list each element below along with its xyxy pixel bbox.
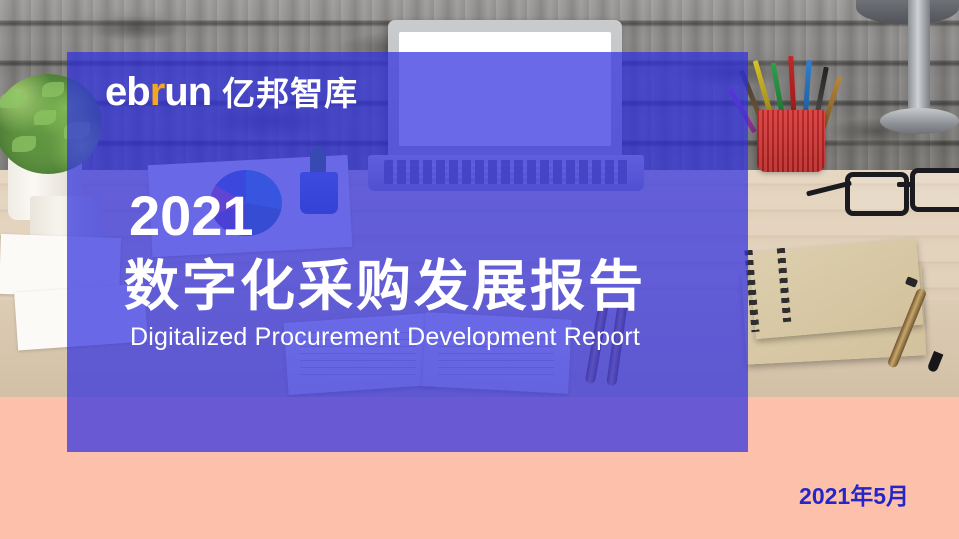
publication-date: 2021年5月 [799, 477, 909, 511]
logo-latin-part-1: eb [105, 70, 150, 114]
leaf [42, 82, 64, 97]
report-cover-slide: ebrun 亿邦智库 2021 数字化采购发展报告 Digitalized Pr… [0, 0, 959, 539]
cover-year: 2021 [129, 188, 254, 244]
cover-title-chinese: 数字化采购发展报告 [124, 255, 646, 318]
eyeglasses-bridge [897, 182, 913, 187]
eyeglasses-right-lens [910, 168, 959, 212]
logo-latin-accent-letter: r [150, 70, 165, 114]
lamp-stem [908, 0, 930, 115]
lamp-base [880, 108, 959, 134]
notebook-top [749, 239, 924, 339]
leaf [12, 136, 36, 152]
logo-chinese-wordmark: 亿邦智库 [222, 77, 358, 110]
logo-latin-part-2: un [164, 70, 211, 114]
wood-knot [60, 8, 210, 48]
ebrun-logo: ebrun 亿邦智库 [105, 72, 358, 112]
cover-subtitle-english: Digitalized Procurement Development Repo… [130, 323, 640, 352]
leaf [0, 92, 24, 108]
leaf [34, 110, 56, 125]
red-pencil-cup [757, 110, 825, 172]
logo-latin-wordmark: ebrun [105, 72, 211, 112]
eyeglasses-left-lens [845, 172, 909, 216]
